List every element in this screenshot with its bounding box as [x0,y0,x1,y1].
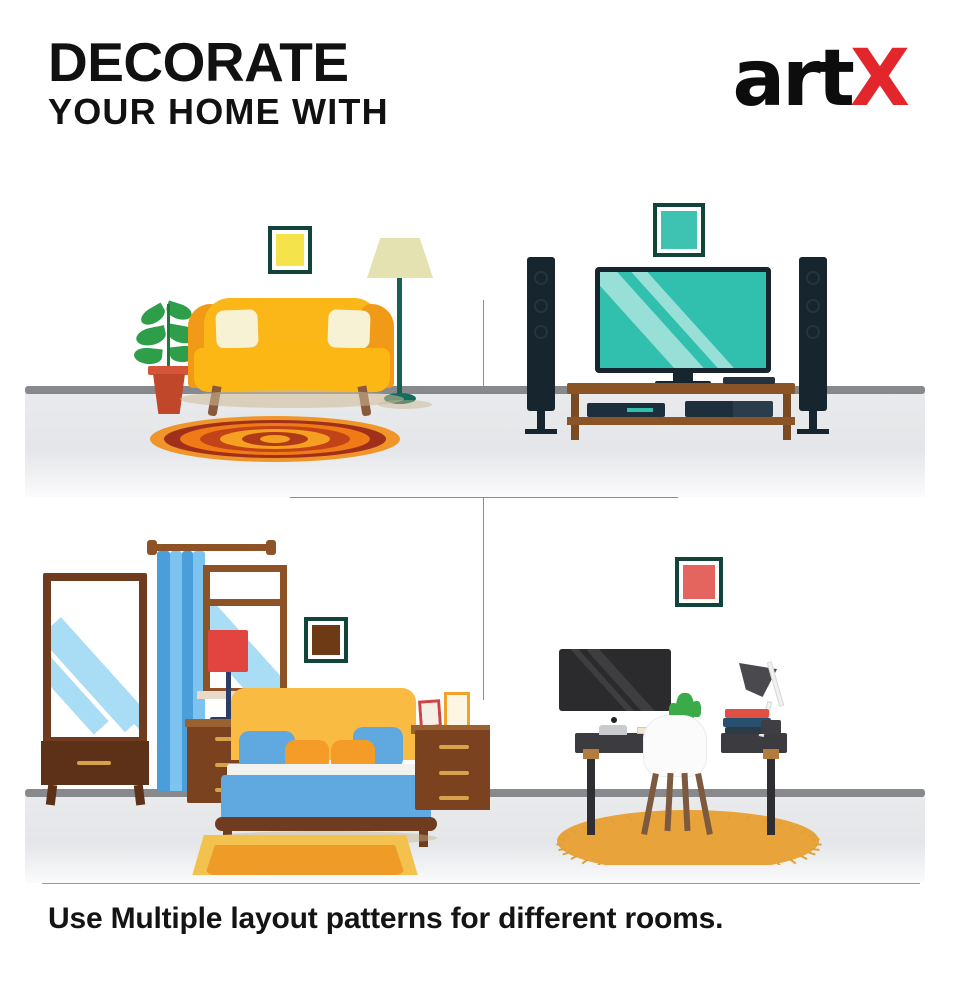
rug-fringe [558,847,565,850]
speaker-driver [806,271,820,285]
rug-fringe [727,813,731,820]
rug-fringe [815,844,822,846]
desk-leg-cap-left [583,749,599,759]
rug-fringe [610,818,616,825]
wall-art-tv-room[interactable] [653,203,705,257]
curtain-panel [170,551,182,791]
logo-text-x: X [850,34,907,124]
scene-tv-room [505,195,865,455]
rug-fringe [808,833,815,837]
media-device-player [587,403,665,417]
wall-art-home-office-canvas [683,565,715,599]
scene-home-office [535,545,865,865]
bedroom-area-rug-inner [205,845,405,875]
rug-fringe [808,851,815,855]
footer-divider [42,883,920,884]
rug-fringe [777,862,783,865]
curtain-rod-finial-right [266,540,276,555]
plant-leaf [133,347,163,366]
book-box [761,720,781,734]
rug-fringe [800,829,807,834]
rug-fringe [777,821,783,827]
footer-caption: Use Multiple layout patterns for differe… [48,902,723,936]
window-mullion-h [203,599,287,606]
speaker-foot [525,429,557,434]
bed-base-rail [215,817,437,831]
rug-fringe [813,838,820,841]
speaker-driver [806,325,820,339]
book-red [725,709,769,718]
headline-block: DECORATE YOUR HOME WITH [48,36,389,129]
speaker-driver [534,271,548,285]
sofa-pillow-right [327,309,370,348]
cactus-arm [692,701,701,717]
desk-leg-cap-right [763,749,779,759]
rug-ring-7 [260,435,290,443]
scene-bedroom [35,535,490,875]
curtain-rod [151,544,271,551]
table-lamp-shade [208,630,248,672]
rug-fringe [557,844,564,846]
rug-fringe [563,851,570,855]
logo-text-art: art [732,34,851,124]
media-remote [723,377,775,384]
rug-fringe [570,855,577,860]
wall-art-tv-room-canvas [661,211,697,249]
rug-fringe [595,821,601,827]
wall-art-living-room-canvas [276,234,304,266]
rug-fringe [563,833,570,837]
bed-blanket [221,775,431,821]
desk-leg-left [587,753,595,835]
mirror-glass [51,581,139,737]
plant-leaf [135,325,168,348]
rug-fringe [745,815,750,822]
tv-screen [600,272,766,368]
speaker-driver [806,299,820,313]
wall-art-living-room[interactable] [268,226,312,274]
floor-lamp-shade [367,238,433,278]
sofa-shadow [180,390,404,408]
speaker-stem [809,411,817,431]
curtain-panel [157,551,170,791]
speaker-stem [537,411,545,431]
rug-fringe [581,859,588,865]
photo-frame-gold [444,692,470,728]
nightstand-drawer-pull [439,796,469,800]
wall-art-bedroom[interactable] [304,617,348,663]
rug-fringe [595,862,601,865]
mirror-leg-left [46,785,57,806]
media-device-grille [733,401,773,417]
rug-fringe [790,825,797,831]
headline-line-1: DECORATE [48,36,389,89]
floor-lamp-pole [397,278,402,398]
nightstand-drawer-pull [439,771,469,775]
headline-line-2: YOUR HOME WITH [48,95,389,130]
desk-leg-right [767,753,775,835]
photo-frame-gold-inner [447,695,467,725]
speaker-driver [534,299,548,313]
media-device-player-led [627,408,653,412]
brand-logo: artX [732,40,907,118]
console-top-surface [567,383,795,394]
speaker-driver [534,325,548,339]
rug-fringe [558,838,565,841]
media-device-console [685,401,735,417]
poster-canvas: DECORATE YOUR HOME WITH artX [0,0,965,1000]
console-lower-shelf [567,417,795,425]
monitor-glare [587,644,657,721]
monitor-camera-dot [611,717,617,723]
speaker-foot [797,429,829,434]
chair-seat [643,715,707,777]
desk-lamp-arm [767,661,784,707]
curtain-rod-finial-left [147,540,157,555]
monitor-stand [599,725,627,735]
wall-art-bedroom-canvas [312,625,340,655]
plant-stem [167,304,170,368]
plant-pot [150,374,188,414]
photo-frame-red-inner [421,702,438,725]
monitor-screen [559,649,671,711]
rug-fringe [570,829,577,834]
mirror-drawer-pull [77,761,111,765]
rug-fringe [800,855,807,860]
rug-fringe [628,815,633,822]
scene-living-room [120,200,470,500]
wall-art-home-office[interactable] [675,557,723,607]
rug-fringe [790,859,797,865]
sofa-pillow-left [215,309,258,348]
plant-pot-rim [148,366,190,375]
rug-fringe [813,847,820,850]
mirror-leg-right [134,785,145,806]
nightstand-drawer-pull [439,745,469,749]
